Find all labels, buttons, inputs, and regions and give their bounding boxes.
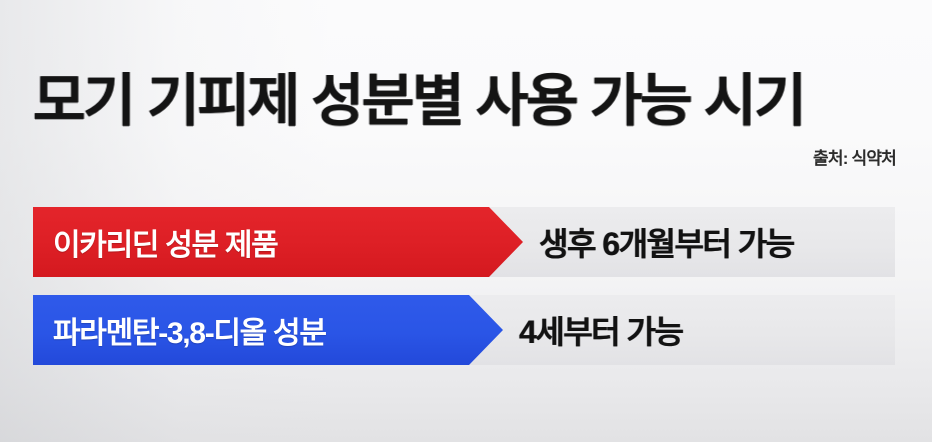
row-value-text: 4세부터 가능 [519,295,682,365]
source-attribution: 출처: 식약처 [813,144,896,169]
comparison-row-pmd: 파라멘탄-3,8-디올 성분 4세부터 가능 [33,295,895,365]
row-label-text: 파라멘탄-3,8-디올 성분 [53,308,326,352]
page-title: 모기 기피제 성분별 사용 가능 시기 [33,72,899,130]
title-block: 모기 기피제 성분별 사용 가능 시기 출처: 식약처 [33,72,899,130]
comparison-rows: 이카리딘 성분 제품 생후 6개월부터 가능 파라멘탄-3,8-디올 성분 4세… [33,207,895,365]
row-label-chevron: 파라멘탄-3,8-디올 성분 [33,295,503,365]
comparison-row-icaridin: 이카리딘 성분 제품 생후 6개월부터 가능 [33,207,895,277]
infographic-card: 모기 기피제 성분별 사용 가능 시기 출처: 식약처 이카리딘 성분 제품 생… [0,0,932,442]
row-value-text: 생후 6개월부터 가능 [539,207,794,277]
row-label-text: 이카리딘 성분 제품 [53,220,277,264]
row-label-chevron: 이카리딘 성분 제품 [33,207,523,277]
